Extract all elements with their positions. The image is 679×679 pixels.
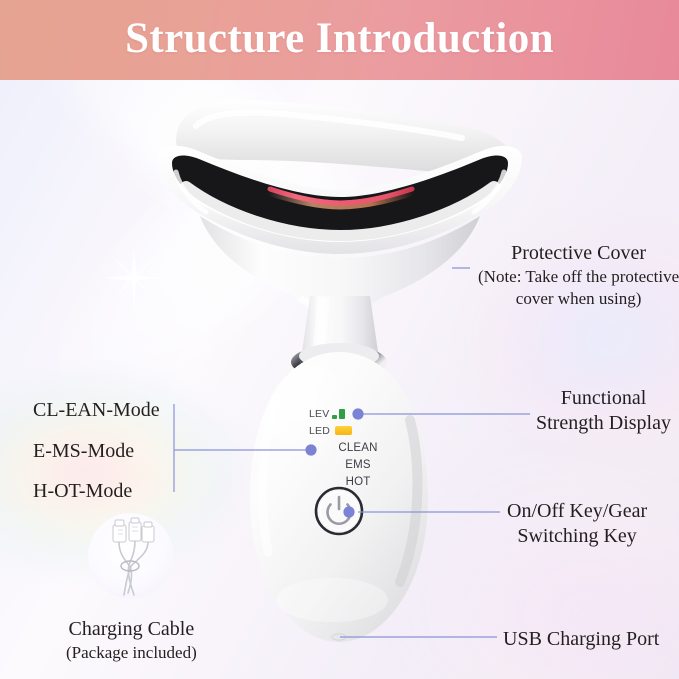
functional-display-line2: Strength Display xyxy=(536,411,671,436)
callout-onoff-key: On/Off Key/Gear Switching Key xyxy=(507,499,647,549)
clean-mode-label: CL-EAN-Mode xyxy=(33,398,160,423)
onoff-key-line1: On/Off Key/Gear xyxy=(507,499,647,524)
callout-clean-mode: CL-EAN-Mode xyxy=(33,398,160,423)
panel-row-lev: LEV xyxy=(300,406,410,421)
ems-mode-label: E-MS-Mode xyxy=(33,439,134,464)
panel-label-ems: EMS xyxy=(345,459,371,471)
panel-row-hot: HOT xyxy=(300,474,410,489)
protective-cover-note-line1: (Note: Take off the protective xyxy=(478,266,679,288)
panel-row-clean: CLEAN xyxy=(300,440,410,455)
level-bars-icon xyxy=(332,408,345,419)
callout-usb-port: USB Charging Port xyxy=(503,627,659,652)
panel-row-ems: EMS xyxy=(300,457,410,472)
functional-strength-display-panel: LEV LED CLEAN EMS HOT xyxy=(300,406,410,491)
panel-label-hot: HOT xyxy=(346,476,371,488)
protective-cover-note-line2: cover when using) xyxy=(478,288,679,310)
callout-protective-cover: Protective Cover (Note: Take off the pro… xyxy=(478,241,679,310)
callout-ems-mode: E-MS-Mode xyxy=(33,439,134,464)
callout-hot-mode: H-OT-Mode xyxy=(33,479,132,504)
infographic-canvas: Structure Introduction xyxy=(0,0,679,679)
amber-chip-icon xyxy=(335,426,352,435)
callout-functional-display: Functional Strength Display xyxy=(536,386,671,436)
protective-cover-title: Protective Cover xyxy=(478,241,679,266)
header-banner: Structure Introduction xyxy=(0,0,679,80)
panel-label-lev: LEV xyxy=(309,408,329,420)
usb-port-label: USB Charging Port xyxy=(503,627,659,652)
panel-row-led: LED xyxy=(300,423,410,438)
onoff-key-line2: Switching Key xyxy=(507,524,647,549)
leader-lines xyxy=(0,0,679,679)
page-title: Structure Introduction xyxy=(0,11,679,67)
hot-mode-label: H-OT-Mode xyxy=(33,479,132,504)
charging-cable-title: Charging Cable xyxy=(66,617,197,642)
panel-label-led: LED xyxy=(309,425,330,437)
panel-label-clean: CLEAN xyxy=(338,442,377,454)
node-onoff-key xyxy=(343,506,354,517)
charging-cable-note: (Package included) xyxy=(66,642,197,663)
functional-display-line1: Functional xyxy=(536,386,671,411)
callout-charging-cable: Charging Cable (Package included) xyxy=(66,617,197,663)
